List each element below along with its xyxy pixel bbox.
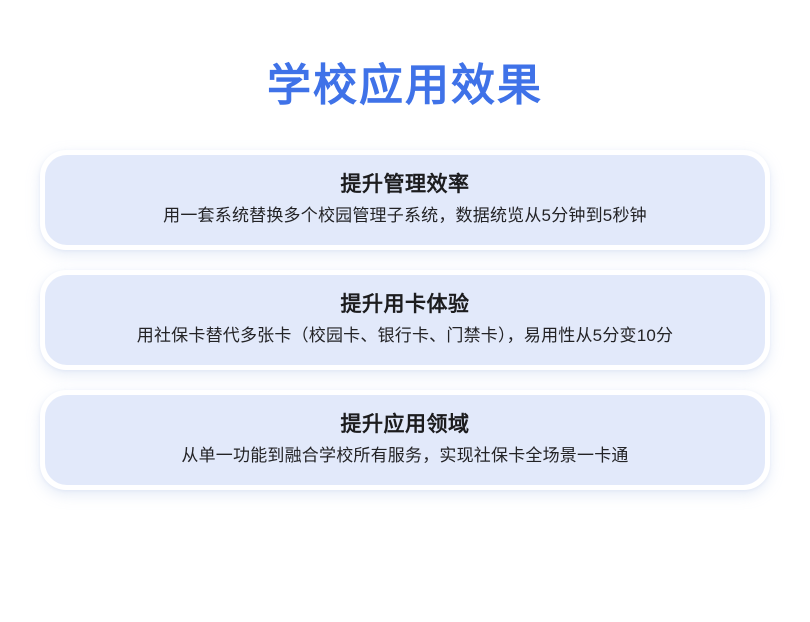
benefit-card-list: 提升管理效率 用一套系统替换多个校园管理子系统，数据统览从5分钟到5秒钟 提升用… <box>40 150 770 490</box>
benefit-card-heading: 提升用卡体验 <box>341 290 470 320</box>
benefit-card-body: 用社保卡替代多张卡（校园卡、银行卡、门禁卡），易用性从5分变10分 <box>137 323 673 349</box>
benefit-card: 提升应用领域 从单一功能到融合学校所有服务，实现社保卡全场景一卡通 <box>40 390 770 490</box>
benefit-card-body: 从单一功能到融合学校所有服务，实现社保卡全场景一卡通 <box>181 443 628 469</box>
slide-root: 学校应用效果 提升管理效率 用一套系统替换多个校园管理子系统，数据统览从5分钟到… <box>0 0 810 622</box>
benefit-card-heading: 提升应用领域 <box>341 410 470 440</box>
benefit-card-inner: 提升用卡体验 用社保卡替代多张卡（校园卡、银行卡、门禁卡），易用性从5分变10分 <box>45 275 765 365</box>
benefit-card-inner: 提升管理效率 用一套系统替换多个校园管理子系统，数据统览从5分钟到5秒钟 <box>45 155 765 245</box>
benefit-card-inner: 提升应用领域 从单一功能到融合学校所有服务，实现社保卡全场景一卡通 <box>45 395 765 485</box>
benefit-card: 提升用卡体验 用社保卡替代多张卡（校园卡、银行卡、门禁卡），易用性从5分变10分 <box>40 270 770 370</box>
page-title: 学校应用效果 <box>0 58 810 114</box>
benefit-card: 提升管理效率 用一套系统替换多个校园管理子系统，数据统览从5分钟到5秒钟 <box>40 150 770 250</box>
benefit-card-body: 用一套系统替换多个校园管理子系统，数据统览从5分钟到5秒钟 <box>163 203 647 229</box>
benefit-card-heading: 提升管理效率 <box>341 170 470 200</box>
